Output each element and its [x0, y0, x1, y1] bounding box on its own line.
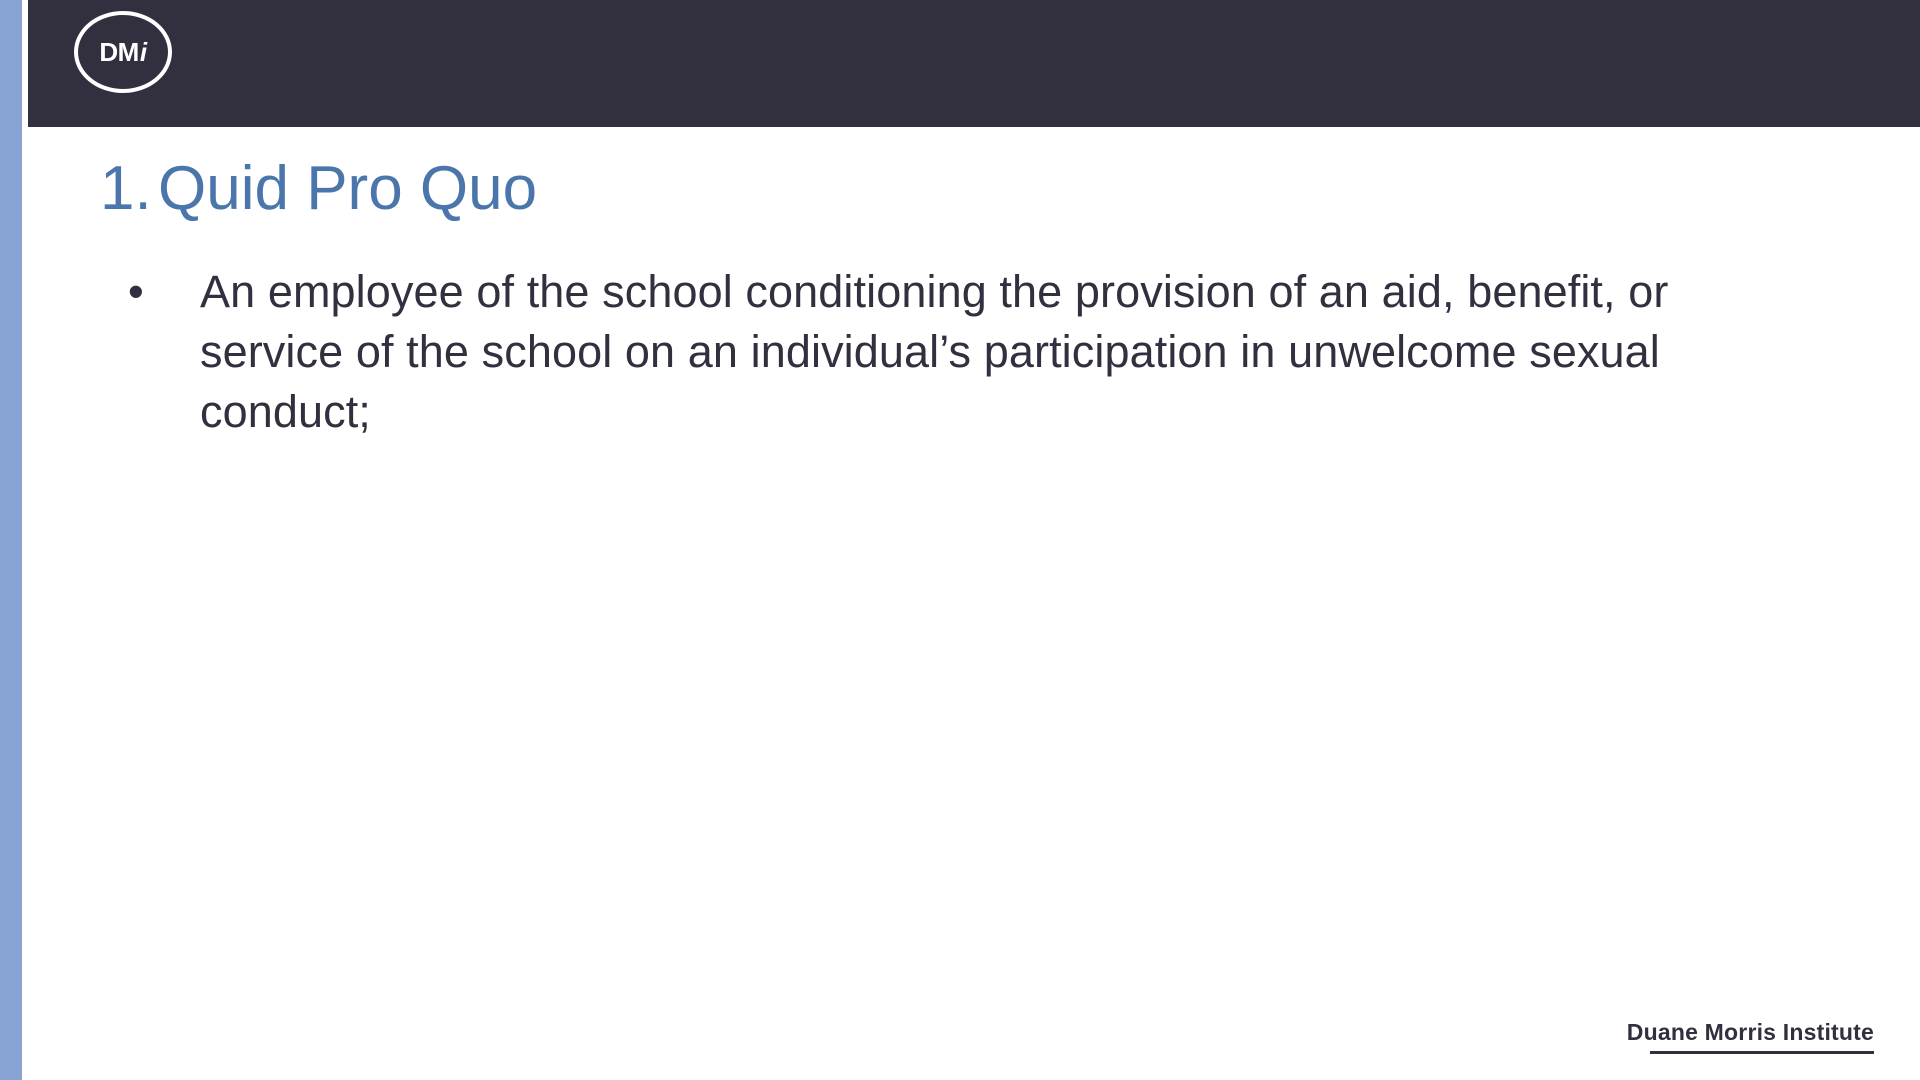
slide-footer: Duane Morris Institute — [1627, 1021, 1874, 1054]
slide-content-area: 1.Quid Pro Quo • An employee of the scho… — [28, 127, 1920, 1080]
page-title: 1.Quid Pro Quo — [100, 154, 537, 223]
bullet-list: • An employee of the school conditioning… — [88, 262, 1808, 442]
presentation-slide: DMi 1.Quid Pro Quo • An employee of the … — [0, 0, 1920, 1080]
list-item: • An employee of the school conditioning… — [88, 262, 1808, 442]
logo-text-i: i — [139, 39, 147, 65]
logo-text-dm: DM — [99, 39, 138, 65]
footer-brand-label: Duane Morris Institute — [1627, 1021, 1874, 1051]
list-item-text: An employee of the school conditioning t… — [200, 262, 1790, 442]
logo-wordmark: DMi — [74, 11, 172, 93]
dmi-logo: DMi — [74, 11, 172, 93]
title-number: 1. — [100, 154, 158, 223]
slide-header-bar: DMi — [28, 0, 1920, 127]
title-text: Quid Pro Quo — [158, 154, 537, 223]
left-accent-stripe — [0, 0, 22, 1080]
footer-underline-rule — [1650, 1051, 1874, 1054]
bullet-point-icon: • — [128, 262, 158, 322]
